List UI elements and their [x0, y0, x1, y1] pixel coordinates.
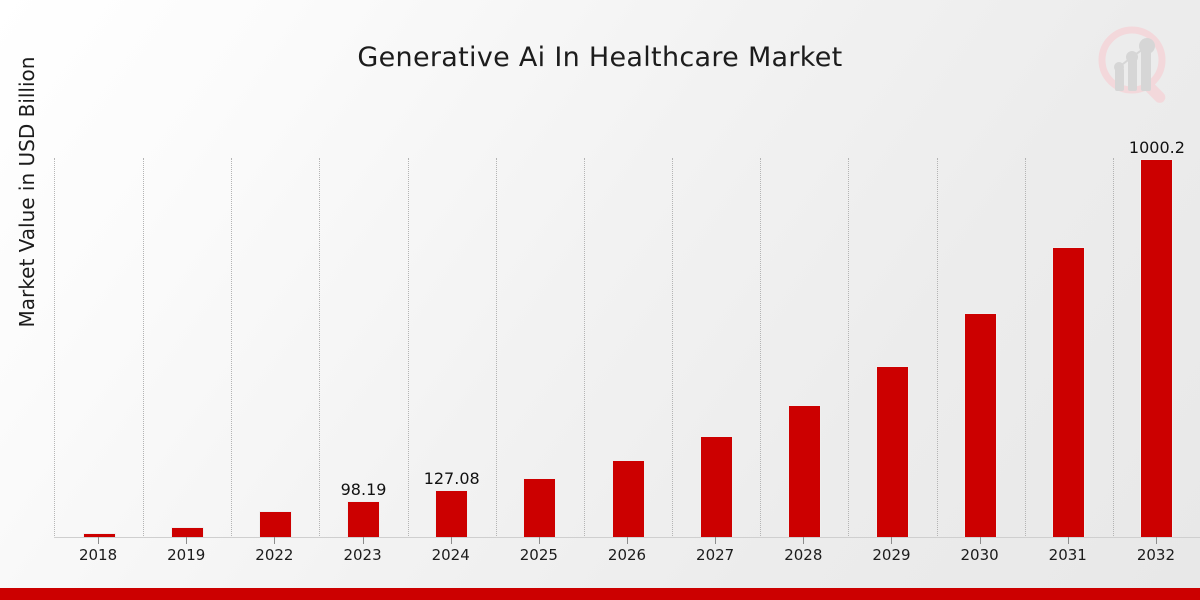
x-axis-tick-label-2027: 2027 — [675, 546, 755, 564]
bar-2026[interactable] — [612, 460, 645, 538]
page-title: Generative Ai In Healthcare Market — [0, 42, 1200, 73]
bar-value-label-2024: 127.08 — [424, 469, 480, 488]
x-axis-tick-label-2029: 2029 — [851, 546, 931, 564]
x-tick — [451, 537, 452, 544]
grid-line — [937, 158, 938, 538]
grid-line — [408, 158, 409, 538]
y-axis-label: Market Value in USD Billion — [15, 0, 39, 387]
bar-2024[interactable]: 127.08 — [435, 490, 468, 538]
x-axis-tick-label-2022: 2022 — [234, 546, 314, 564]
grid-line — [496, 158, 497, 538]
x-axis-tick-label-2018: 2018 — [58, 546, 138, 564]
bar-2022[interactable] — [259, 511, 292, 538]
grid-line — [143, 158, 144, 538]
x-tick — [274, 537, 275, 544]
x-tick — [980, 537, 981, 544]
chart-container: Generative Ai In Healthcare Market Marke… — [0, 0, 1200, 600]
x-tick — [1156, 537, 1157, 544]
bar-2031[interactable] — [1052, 247, 1085, 538]
x-axis-tick-label-2025: 2025 — [499, 546, 579, 564]
x-tick — [803, 537, 804, 544]
x-axis-tick-label-2026: 2026 — [587, 546, 667, 564]
bar-2023[interactable]: 98.19 — [347, 501, 380, 538]
x-tick — [1068, 537, 1069, 544]
grid-line — [319, 158, 320, 538]
x-tick — [715, 537, 716, 544]
bar-2032[interactable]: 1000.2 — [1140, 159, 1173, 538]
footer-accent-band — [0, 588, 1200, 600]
bar-2028[interactable] — [788, 405, 821, 538]
x-axis-tick-label-2023: 2023 — [323, 546, 403, 564]
grid-line — [1113, 158, 1114, 538]
grid-line — [760, 158, 761, 538]
bar-2029[interactable] — [876, 366, 909, 538]
bar-value-label-2023: 98.19 — [341, 480, 387, 499]
x-axis-tick-label-2019: 2019 — [146, 546, 226, 564]
grid-line — [584, 158, 585, 538]
x-axis-tick-label-2024: 2024 — [411, 546, 491, 564]
grid-line — [231, 158, 232, 538]
grid-line — [672, 158, 673, 538]
x-axis-tick-label-2028: 2028 — [763, 546, 843, 564]
grid-line — [1025, 158, 1026, 538]
plot-area: 98.19127.081000.2 — [54, 158, 1200, 538]
bar-2025[interactable] — [523, 478, 556, 538]
x-axis-tick-label-2032: 2032 — [1116, 546, 1196, 564]
x-tick — [98, 537, 99, 544]
x-tick — [539, 537, 540, 544]
x-tick — [186, 537, 187, 544]
bar-2027[interactable] — [700, 436, 733, 538]
grid-line — [848, 158, 849, 538]
x-tick — [627, 537, 628, 544]
market-research-magnifier-logo — [1092, 22, 1178, 108]
bar-value-label-2032: 1000.2 — [1129, 138, 1185, 157]
x-axis-tick-label-2031: 2031 — [1028, 546, 1108, 564]
x-tick — [891, 537, 892, 544]
x-axis-tick-label-2030: 2030 — [940, 546, 1020, 564]
bar-2030[interactable] — [964, 313, 997, 538]
x-tick — [363, 537, 364, 544]
